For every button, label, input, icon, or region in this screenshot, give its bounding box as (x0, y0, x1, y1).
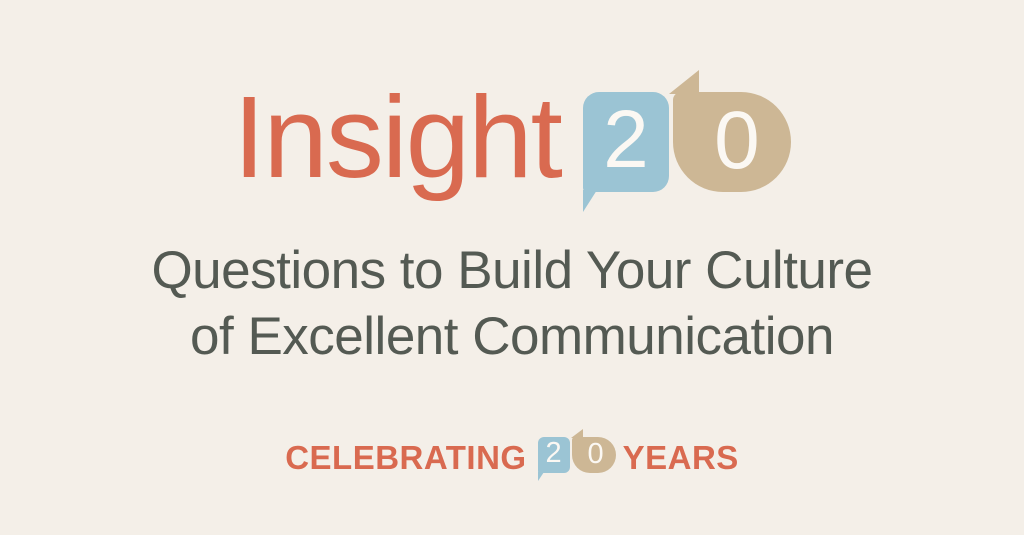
badge-digit-zero: 0 (572, 437, 616, 473)
bubble-tail (669, 70, 699, 94)
bubble-tail (538, 472, 544, 481)
mini-speech-bubble-blue-icon: 2 (538, 437, 570, 473)
headline-line-2: of Excellent Communication (151, 304, 872, 370)
speech-bubble-blue-icon: 2 (583, 92, 669, 192)
headline-line-1: Questions to Build Your Culture (151, 238, 872, 304)
badge-label-years: YEARS (623, 441, 739, 474)
speech-bubble-tan-icon: 0 (673, 92, 791, 192)
badge-digit-two: 2 (538, 437, 570, 473)
anniversary-badge: CELEBRATING 2 0 YEARS (285, 433, 739, 483)
badge-label-celebrating: CELEBRATING (285, 441, 526, 474)
logo-digit-zero: 0 (673, 92, 791, 192)
logo-digit-two: 2 (583, 92, 669, 192)
logo-lockup: Insight 2 0 (233, 66, 791, 216)
mini-speech-bubble-tan-icon: 0 (572, 437, 616, 473)
page-title: Questions to Build Your Culture of Excel… (151, 238, 872, 371)
logo-wordmark: Insight (233, 79, 561, 195)
badge-number-marks: 2 0 (538, 435, 616, 481)
poster-canvas: Insight 2 0 Questions to Build Your Cult… (0, 0, 1024, 535)
bubble-tail (583, 190, 597, 212)
logo-number-marks: 2 0 (583, 66, 791, 216)
